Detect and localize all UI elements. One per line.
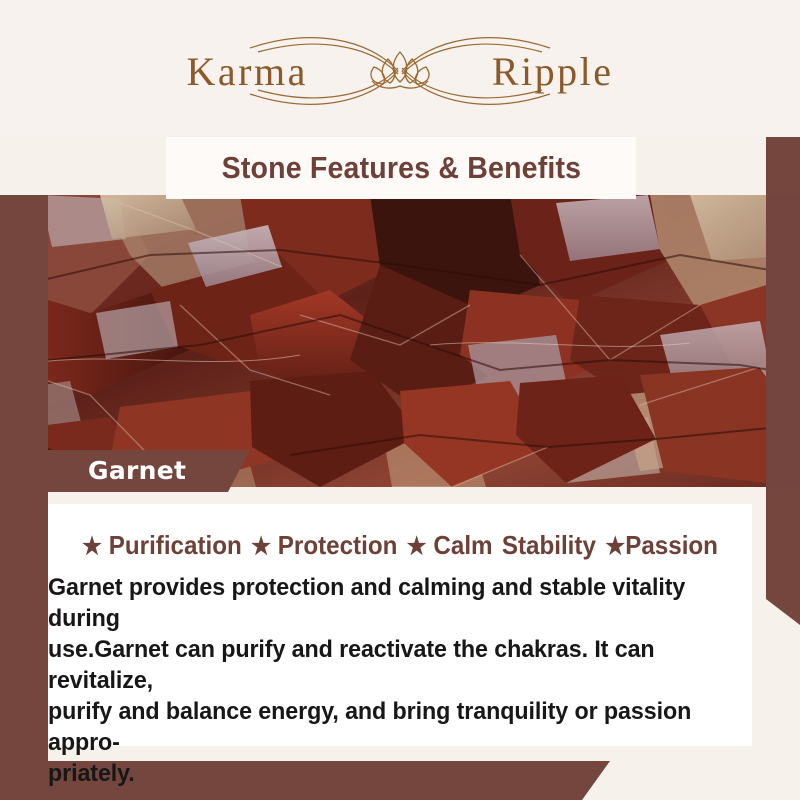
- brand-name-left: Karma: [187, 48, 400, 95]
- description-line: use.Garnet can purify and reactivate the…: [48, 634, 717, 696]
- garnet-photo: [0, 195, 800, 487]
- frame-left-photo-tint: [0, 195, 48, 487]
- stone-name-label: Garnet: [88, 450, 186, 492]
- brand-logo: Karma Ripple: [140, 26, 660, 116]
- section-title-band: Stone Features & Benefits: [166, 137, 636, 199]
- stone-description: Garnet provides protection and calming a…: [48, 572, 717, 789]
- star-label-space: [427, 530, 434, 560]
- page-title: Stone Features & Benefits: [221, 150, 581, 186]
- header: Karma Ripple: [0, 0, 800, 135]
- star-icon: ★: [407, 533, 427, 560]
- star-label-space: [271, 530, 278, 560]
- brand-wordmark: Karma Ripple: [187, 48, 614, 95]
- keyword-passion: Passion: [625, 530, 718, 560]
- star-icon: ★: [251, 533, 271, 560]
- keyword-list: ★ Purification★ Protection★ CalmStabilit…: [73, 530, 728, 561]
- star-icon: ★: [82, 533, 102, 560]
- keyword-protection: Protection: [278, 530, 398, 560]
- keyword-calm: Calm: [433, 530, 492, 560]
- star-icon: ★: [605, 533, 625, 560]
- frame-right-photo-tint: [766, 195, 800, 487]
- stone-info-card: Karma Ripple: [0, 0, 800, 800]
- keyword-stability: Stability: [502, 530, 596, 560]
- content-panel: ★ Purification★ Protection★ CalmStabilit…: [48, 504, 752, 746]
- brand-name-right: Ripple: [400, 48, 614, 95]
- keyword-purification: Purification: [109, 530, 242, 560]
- star-label-space: [102, 530, 109, 560]
- description-line: priately.: [48, 758, 717, 789]
- description-line: purify and balance energy, and bring tra…: [48, 696, 717, 758]
- description-line: Garnet provides protection and calming a…: [48, 572, 717, 634]
- stone-name-banner: Garnet: [36, 450, 250, 492]
- frame-right-bar: [766, 137, 800, 625]
